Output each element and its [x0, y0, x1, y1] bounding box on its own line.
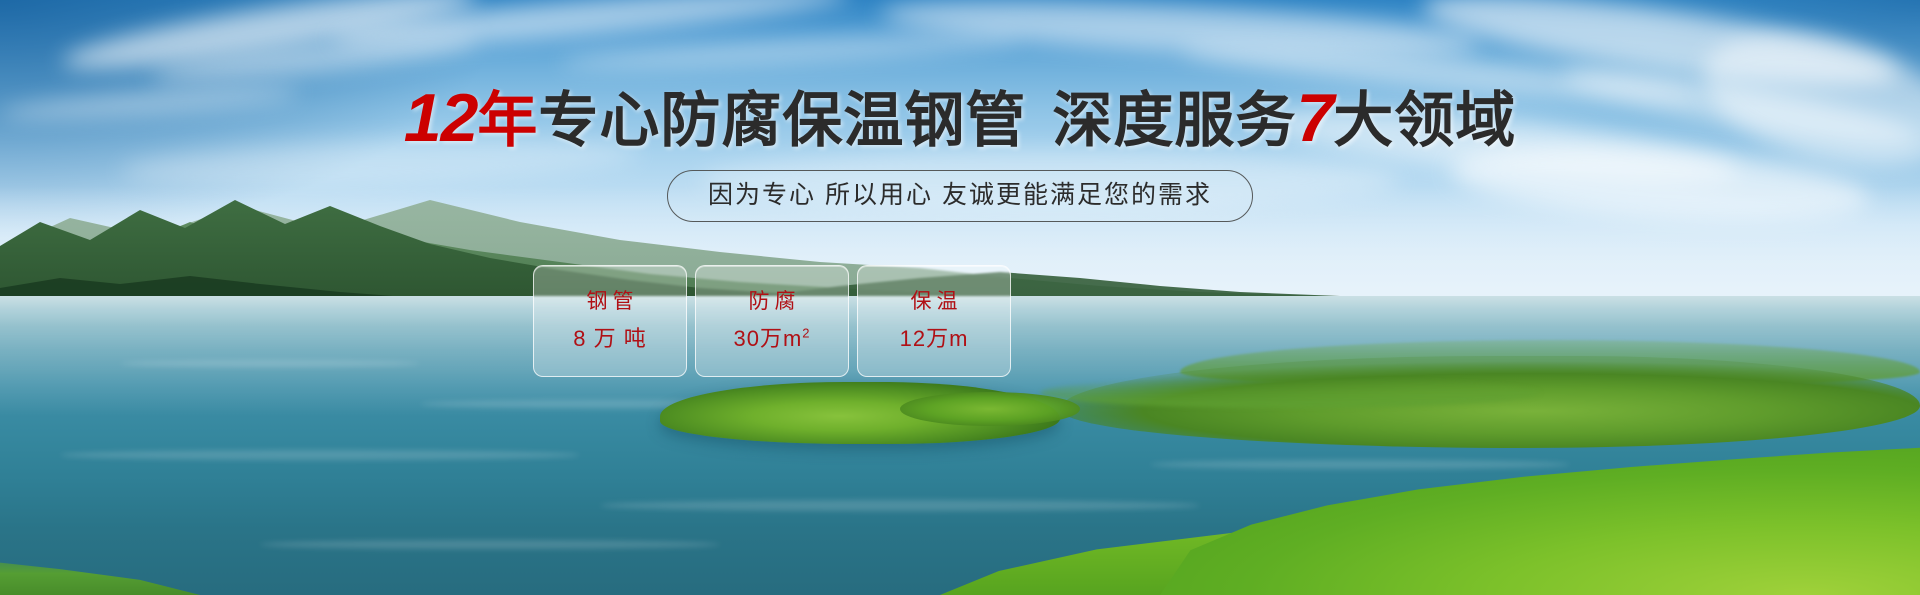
water-ripple [1150, 460, 1570, 469]
stat-card-label: 防腐 [744, 290, 801, 314]
headline-text-secondary: 深度服务 [1052, 87, 1296, 154]
banner-hero: 12年专心防腐保温钢管深度服务7大领域 因为专心 所以用心 友诚更能满足您的需求… [0, 0, 1920, 595]
island-small [900, 392, 1080, 426]
stat-card-steel-pipe[interactable]: 钢管 8 万 吨 [533, 265, 687, 377]
stat-card-insulation[interactable]: 保温 12万m [857, 265, 1011, 377]
stat-card-label: 钢管 [582, 290, 639, 314]
water-ripple [120, 360, 420, 367]
stat-card-value-main: 8 万 吨 [573, 326, 646, 351]
water-ripple [600, 500, 1200, 511]
headline-fields-number: 7 [1296, 80, 1333, 156]
banner-headline: 12年专心防腐保温钢管深度服务7大领域 [0, 86, 1920, 153]
stat-card-value: 12万m [900, 326, 969, 352]
banner-subtitle-wrap: 因为专心 所以用心 友诚更能满足您的需求 [0, 170, 1920, 222]
headline-text-primary: 专心防腐保温钢管 [538, 87, 1026, 154]
headline-years-number: 12 [404, 80, 478, 156]
stat-card-value: 30万m2 [733, 326, 810, 352]
water-ripple [60, 450, 580, 460]
headline-text-tertiary: 大领域 [1333, 87, 1516, 154]
stat-card-group: 钢管 8 万 吨 防腐 30万m2 保温 12万m [533, 265, 1011, 377]
stat-card-value-main: 12万m [900, 326, 969, 351]
stat-card-value-sup: 2 [802, 326, 810, 341]
water-ripple [260, 540, 720, 549]
stat-card-label: 保温 [906, 290, 963, 314]
stat-card-anticorrosion[interactable]: 防腐 30万m2 [695, 265, 849, 377]
grass-strip [1040, 378, 1540, 408]
stat-card-value: 8 万 吨 [573, 326, 646, 352]
stat-card-value-main: 30万m [733, 326, 802, 351]
banner-subtitle-pill: 因为专心 所以用心 友诚更能满足您的需求 [667, 170, 1253, 222]
headline-years-unit: 年 [477, 87, 538, 154]
